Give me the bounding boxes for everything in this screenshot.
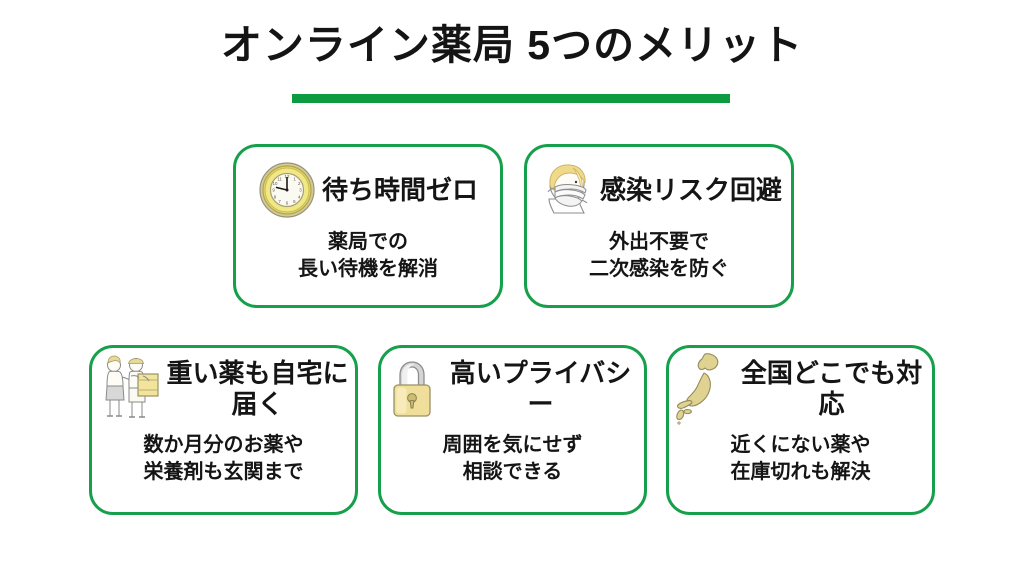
card-heading: 重い薬も自宅に届く bbox=[166, 358, 349, 419]
card-subtext-line: 周囲を気にせず bbox=[385, 432, 640, 459]
benefit-card-infection-risk: 感染リスク回避 外出不要で 二次感染を防ぐ bbox=[524, 144, 794, 308]
card-subtext: 周囲を気にせず 相談できる bbox=[381, 432, 644, 486]
delivery-people-icon bbox=[98, 352, 160, 426]
svg-text:10: 10 bbox=[273, 181, 278, 186]
card-subtext-line: 栄養剤も玄関まで bbox=[96, 459, 351, 486]
card-subtext: 薬局での 長い待機を解消 bbox=[236, 229, 500, 283]
benefit-card-privacy: 高いプライバシー 周囲を気にせず 相談できる bbox=[378, 345, 647, 515]
svg-text:11: 11 bbox=[277, 176, 282, 181]
card-subtext-line: 数か月分のお薬や bbox=[96, 432, 351, 459]
card-header: 感染リスク回避 bbox=[527, 147, 791, 233]
card-header: 高いプライバシー bbox=[381, 348, 644, 430]
card-heading: 高いプライバシー bbox=[443, 358, 638, 419]
card-subtext-line: 相談できる bbox=[385, 459, 640, 486]
benefit-card-wait-time: 12 3 6 9 1 2 4 5 7 8 10 11 待ち時間ゼロ bbox=[233, 144, 503, 308]
card-subtext: 数か月分のお薬や 栄養剤も玄関まで bbox=[92, 432, 355, 486]
benefit-card-home-delivery: 重い薬も自宅に届く 数か月分のお薬や 栄養剤も玄関まで bbox=[89, 345, 358, 515]
page-title: オンライン薬局 5つのメリット bbox=[0, 22, 1024, 69]
card-heading: 全国どこでも対応 bbox=[737, 358, 926, 419]
card-header: 12 3 6 9 1 2 4 5 7 8 10 11 待ち時間ゼロ bbox=[236, 147, 500, 233]
card-subtext: 近くにない薬や 在庫切れも解決 bbox=[669, 432, 932, 486]
card-heading: 感染リスク回避 bbox=[600, 175, 782, 206]
card-subtext-line: 外出不要で bbox=[531, 229, 787, 256]
japan-map-icon bbox=[675, 351, 731, 427]
card-header: 全国どこでも対応 bbox=[669, 348, 932, 430]
masked-person-icon bbox=[536, 159, 594, 221]
padlock-icon bbox=[387, 358, 437, 420]
card-subtext: 外出不要で 二次感染を防ぐ bbox=[527, 229, 791, 283]
card-subtext-line: 薬局での bbox=[240, 229, 496, 256]
card-heading: 待ち時間ゼロ bbox=[322, 175, 478, 206]
card-subtext-line: 在庫切れも解決 bbox=[673, 459, 928, 486]
card-subtext-line: 近くにない薬や bbox=[673, 432, 928, 459]
clock-icon: 12 3 6 9 1 2 4 5 7 8 10 11 bbox=[258, 161, 316, 219]
card-header: 重い薬も自宅に届く bbox=[92, 348, 355, 430]
benefit-card-nationwide: 全国どこでも対応 近くにない薬や 在庫切れも解決 bbox=[666, 345, 935, 515]
card-subtext-line: 二次感染を防ぐ bbox=[531, 256, 787, 283]
title-accent-bar bbox=[292, 94, 730, 103]
card-subtext-line: 長い待機を解消 bbox=[240, 256, 496, 283]
title-block: オンライン薬局 5つのメリット bbox=[0, 22, 1024, 69]
